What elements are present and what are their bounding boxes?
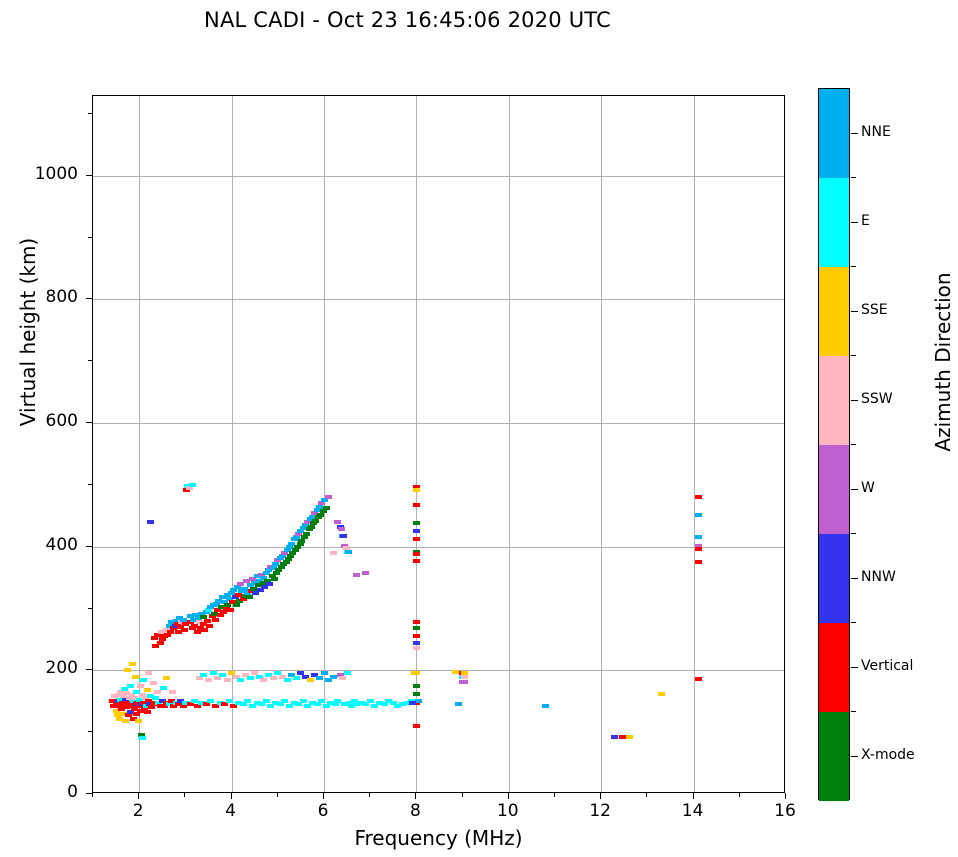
- y-axis-tick-label: 400: [8, 535, 78, 555]
- colorbar-segment-ssw: [819, 356, 849, 445]
- colorbar-label-nne: NNE: [861, 124, 891, 140]
- colorbar-tick: [851, 311, 858, 312]
- x-axis-tick: [600, 793, 601, 799]
- scatter-point: [132, 675, 139, 679]
- scatter-point: [695, 513, 702, 517]
- scatter-point: [205, 678, 212, 682]
- y-axis-tick: [86, 175, 92, 176]
- scatter-point: [325, 495, 332, 499]
- colorbar-boundary-tick: [851, 622, 856, 623]
- colorbar-boundary-tick: [851, 177, 856, 178]
- scatter-point: [413, 503, 420, 507]
- x-axis-tick: [508, 793, 509, 799]
- scatter-point: [542, 704, 549, 708]
- scatter-point: [167, 630, 174, 634]
- colorbar-tick: [851, 756, 858, 757]
- scatter-point: [413, 620, 420, 624]
- y-axis-minor-tick: [88, 237, 92, 238]
- x-axis-minor-tick: [646, 793, 647, 797]
- colorbar-boundary-tick: [851, 533, 856, 534]
- scatter-point: [413, 559, 420, 563]
- scatter-point: [321, 671, 328, 675]
- colorbar-label-ssw: SSW: [861, 391, 893, 407]
- colorbar-boundary-tick: [851, 266, 856, 267]
- scatter-point: [227, 608, 234, 612]
- scatter-point: [455, 702, 462, 706]
- scatter-point: [247, 676, 254, 680]
- scatter-point: [353, 573, 360, 577]
- scatter-point: [144, 710, 151, 714]
- scatter-point: [413, 529, 420, 533]
- colorbar-tick: [851, 222, 858, 223]
- scatter-point: [409, 701, 416, 705]
- x-axis-tick-label: 16: [755, 801, 815, 821]
- y-axis-tick: [86, 422, 92, 423]
- x-axis-minor-tick: [554, 793, 555, 797]
- scatter-point: [206, 624, 213, 628]
- scatter-point: [140, 678, 147, 682]
- scatter-point: [260, 678, 267, 682]
- scatter-point: [246, 595, 253, 599]
- scatter-point: [169, 690, 176, 694]
- x-axis-tick-label: 12: [570, 801, 630, 821]
- scatter-point: [270, 676, 277, 680]
- scatter-point: [293, 676, 300, 680]
- colorbar-segment-sse: [819, 267, 849, 356]
- scatter-point: [189, 483, 196, 487]
- scatter-point: [334, 520, 341, 524]
- x-axis-tick-label: 6: [293, 801, 353, 821]
- scatter-point: [330, 675, 337, 679]
- scatter-point: [413, 626, 420, 630]
- scatter-point: [611, 735, 618, 739]
- scatter-point: [160, 686, 167, 690]
- scatter-point: [307, 678, 314, 682]
- scatter-point: [212, 618, 219, 622]
- scatter-point: [413, 641, 420, 645]
- colorbar-tick: [851, 133, 858, 134]
- scatter-point: [413, 488, 420, 492]
- scatter-point: [695, 495, 702, 499]
- scatter-point: [345, 550, 352, 554]
- colorbar-boundary-tick: [851, 355, 856, 356]
- scatter-point: [163, 676, 170, 680]
- scatter-point: [210, 671, 217, 675]
- y-axis-tick-label: 0: [8, 782, 78, 802]
- x-axis-tick-label: 14: [663, 801, 723, 821]
- x-axis-minor-tick: [277, 793, 278, 797]
- y-axis-minor-tick: [88, 484, 92, 485]
- scatter-point: [127, 684, 134, 688]
- y-axis-minor-tick: [88, 731, 92, 732]
- colorbar-label-x-mode: X-mode: [861, 747, 915, 763]
- x-axis-minor-tick: [184, 793, 185, 797]
- y-axis-tick: [86, 546, 92, 547]
- scatter-point: [619, 735, 626, 739]
- colorbar-label-w: W: [861, 480, 875, 496]
- colorbar-boundary-tick: [851, 444, 856, 445]
- scatter-point: [224, 678, 231, 682]
- scatter-point: [413, 521, 420, 525]
- scatter-point: [312, 519, 319, 523]
- scatter-point: [317, 513, 324, 517]
- scatter-point: [139, 736, 146, 740]
- scatter-point: [413, 552, 420, 556]
- scatter-point: [235, 593, 242, 597]
- scatter-point: [413, 724, 420, 728]
- scatter-point: [129, 662, 136, 666]
- y-axis-title: Virtual height (km): [16, 182, 40, 482]
- ionogram-plot-area: [92, 95, 785, 793]
- scatter-point: [201, 628, 208, 632]
- colorbar-segment-e: [819, 178, 849, 267]
- y-axis-minor-tick: [88, 360, 92, 361]
- y-axis-tick-label: 200: [8, 658, 78, 678]
- scatter-point: [413, 537, 420, 541]
- scatter-point: [695, 547, 702, 551]
- scatter-point: [658, 692, 665, 696]
- x-axis-tick: [323, 793, 324, 799]
- colorbar-tick: [851, 489, 858, 490]
- page-title: NAL CADI - Oct 23 16:45:06 2020 UTC: [0, 8, 815, 32]
- x-axis-tick: [415, 793, 416, 799]
- scatter-point: [316, 676, 323, 680]
- x-axis-tick-label: 10: [478, 801, 538, 821]
- scatter-point: [233, 603, 240, 607]
- scatter-point: [339, 676, 346, 680]
- colorbar-boundary-tick: [851, 711, 856, 712]
- colorbar-title: Azimuth Direction: [931, 212, 955, 512]
- x-axis-minor-tick: [462, 793, 463, 797]
- colorbar-label-nnw: NNW: [861, 569, 896, 585]
- scatter-point: [122, 719, 129, 723]
- colorbar-segment-w: [819, 445, 849, 534]
- scatter-point: [695, 677, 702, 681]
- scatter-point: [411, 671, 418, 675]
- scatter-point: [626, 735, 633, 739]
- scatter-point: [266, 582, 273, 586]
- scatter-point: [275, 568, 282, 572]
- scatter-point: [135, 719, 142, 723]
- scatter-point: [362, 571, 369, 575]
- scatter-point: [695, 560, 702, 564]
- colorbar: [818, 88, 850, 800]
- y-axis-tick: [86, 298, 92, 299]
- y-axis-tick: [86, 669, 92, 670]
- scatter-point: [150, 681, 157, 685]
- scatter-point: [284, 678, 291, 682]
- x-axis-minor-tick: [739, 793, 740, 797]
- scatter-point: [147, 520, 154, 524]
- colorbar-tick: [851, 400, 858, 401]
- scatter-point: [124, 668, 131, 672]
- scatter-point: [461, 675, 468, 679]
- x-axis-tick-label: 4: [201, 801, 261, 821]
- colorbar-segment-vertical: [819, 623, 849, 712]
- x-axis-tick-label: 2: [108, 801, 168, 821]
- scatter-point: [461, 680, 468, 684]
- scatter-point: [154, 690, 161, 694]
- scatter-point: [413, 692, 420, 696]
- colorbar-segment-nne: [819, 89, 849, 178]
- x-axis-minor-tick: [369, 793, 370, 797]
- scatter-point: [413, 646, 420, 650]
- scatter-points-layer: [93, 96, 784, 792]
- scatter-point: [338, 527, 345, 531]
- x-axis-tick: [785, 793, 786, 799]
- scatter-point: [181, 628, 188, 632]
- scatter-point: [204, 619, 211, 623]
- scatter-point: [237, 678, 244, 682]
- scatter-point: [303, 532, 310, 536]
- scatter-point: [340, 534, 347, 538]
- scatter-point: [415, 699, 422, 703]
- scatter-point: [144, 688, 151, 692]
- colorbar-label-sse: SSE: [861, 302, 888, 318]
- colorbar-label-vertical: Vertical: [861, 658, 913, 674]
- colorbar-segment-x-mode: [819, 712, 849, 801]
- x-axis-tick-label: 8: [385, 801, 445, 821]
- colorbar-tick: [851, 667, 858, 668]
- scatter-point: [308, 525, 315, 529]
- x-axis-tick: [693, 793, 694, 799]
- y-axis-tick: [86, 793, 92, 794]
- scatter-point: [137, 684, 144, 688]
- y-axis-minor-tick: [88, 608, 92, 609]
- colorbar-label-e: E: [861, 213, 870, 229]
- scatter-point: [695, 535, 702, 539]
- colorbar-segment-nnw: [819, 534, 849, 623]
- scatter-point: [271, 577, 278, 581]
- x-axis-tick: [231, 793, 232, 799]
- scatter-point: [413, 634, 420, 638]
- scatter-point: [413, 684, 420, 688]
- x-axis-minor-tick: [92, 793, 93, 797]
- scatter-point: [145, 671, 152, 675]
- scatter-point: [344, 671, 351, 675]
- y-axis-tick-label: 1000: [8, 164, 78, 184]
- scatter-point: [330, 551, 337, 555]
- colorbar-tick: [851, 578, 858, 579]
- y-axis-minor-tick: [88, 113, 92, 114]
- x-axis-tick: [138, 793, 139, 799]
- x-axis-title: Frequency (MHz): [92, 826, 785, 850]
- scatter-point: [323, 506, 330, 510]
- scatter-point: [194, 630, 201, 634]
